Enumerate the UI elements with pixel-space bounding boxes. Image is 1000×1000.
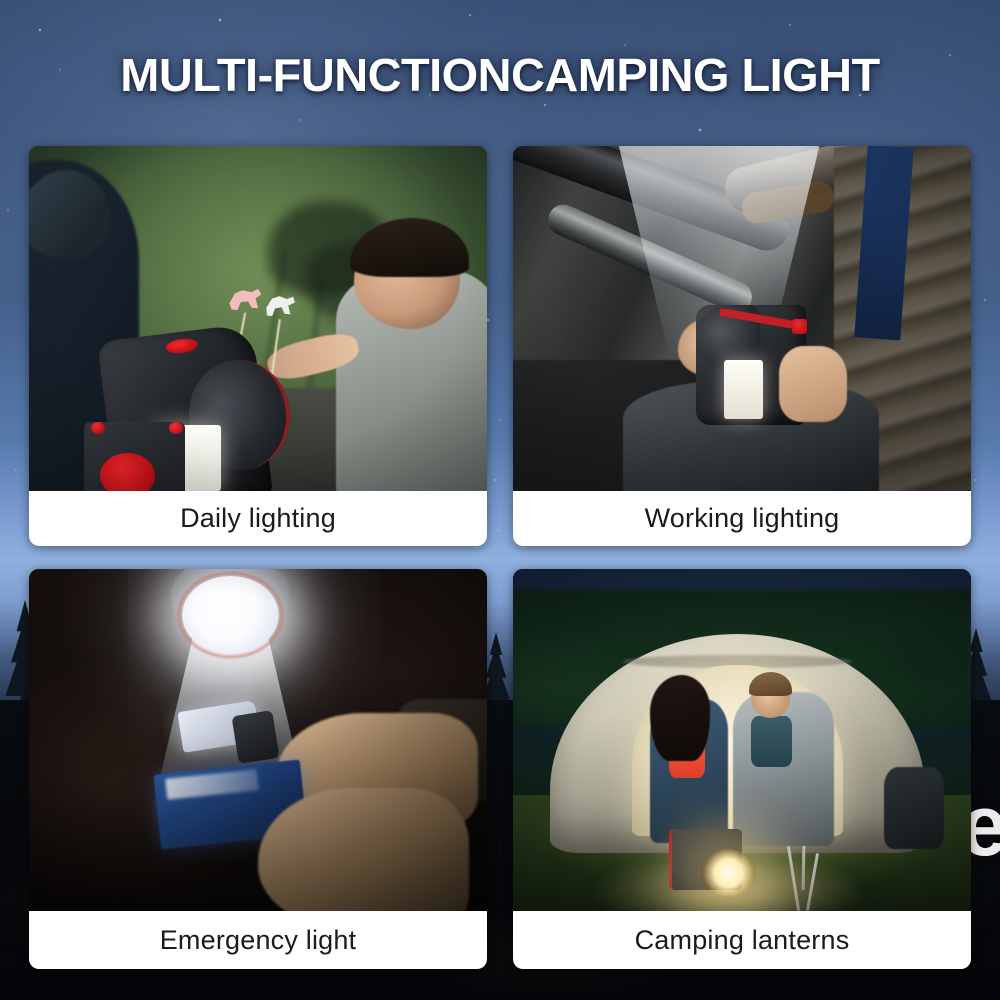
card-caption-camping-lanterns: Camping lanterns (513, 911, 971, 969)
photo-camping-lanterns (513, 569, 971, 911)
card-caption-daily-lighting: Daily lighting (29, 491, 487, 546)
photo-vignette (513, 569, 971, 911)
photo-emergency-light (29, 569, 487, 911)
feature-card-emergency-light[interactable]: Emergency light (29, 569, 487, 969)
feature-card-daily-lighting[interactable]: Daily lighting (29, 146, 487, 546)
photo-daily-lighting (29, 146, 487, 491)
card-caption-emergency-light: Emergency light (29, 911, 487, 969)
photo-working-lighting (513, 146, 971, 491)
product-poster: MULTI-FUNCTIONCAMPING LIGHT ve (0, 0, 1000, 1000)
photo-vignette (513, 146, 971, 491)
photo-vignette (29, 146, 487, 491)
feature-card-camping-lanterns[interactable]: Camping lanterns (513, 569, 971, 969)
card-caption-working-lighting: Working lighting (513, 491, 971, 546)
photo-vignette (29, 569, 487, 911)
feature-card-grid: Daily lighting (29, 146, 971, 969)
feature-card-working-lighting[interactable]: Working lighting (513, 146, 971, 546)
page-title: MULTI-FUNCTIONCAMPING LIGHT (0, 48, 1000, 102)
